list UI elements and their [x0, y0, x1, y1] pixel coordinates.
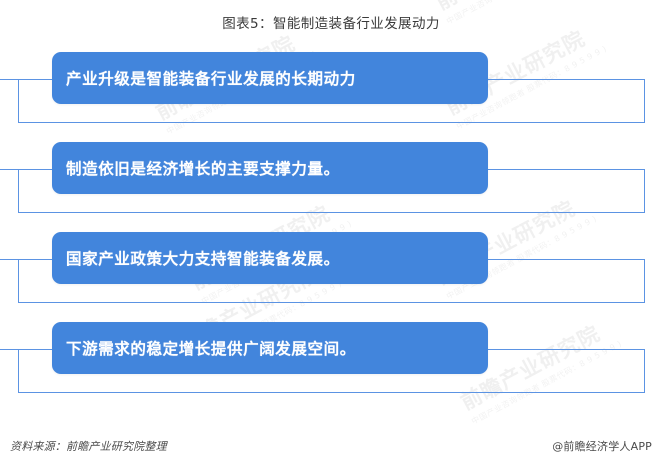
source-note: 资料来源：前瞻产业研究院整理	[10, 438, 167, 454]
driver-box-label: 制造依旧是经济增长的主要支撑力量。	[52, 157, 340, 179]
driver-box[interactable]: 制造依旧是经济增长的主要支撑力量。	[52, 142, 488, 194]
app-credit: @前瞻经济学人APP	[552, 438, 652, 454]
footer: 资料来源：前瞻产业研究院整理 @前瞻经济学人APP	[0, 438, 662, 454]
row-connector-tick	[0, 169, 19, 170]
row-connector-tick	[0, 259, 19, 260]
driver-box[interactable]: 产业升级是智能装备行业发展的长期动力	[52, 52, 488, 104]
driver-box[interactable]: 下游需求的稳定增长提供广阔发展空间。	[52, 322, 488, 374]
driver-box[interactable]: 国家产业政策大力支持智能装备发展。	[52, 232, 488, 284]
driver-box-label: 产业升级是智能装备行业发展的长期动力	[52, 67, 356, 89]
drivers-diagram: 产业升级是智能装备行业发展的长期动力 制造依旧是经济增长的主要支撑力量。 国家产…	[0, 0, 662, 468]
chart-title: 图表5：智能制造装备行业发展动力	[0, 12, 662, 32]
driver-box-label: 国家产业政策大力支持智能装备发展。	[52, 247, 340, 269]
row-connector-tick	[0, 349, 19, 350]
driver-box-label: 下游需求的稳定增长提供广阔发展空间。	[52, 337, 356, 359]
row-connector-tick	[0, 79, 19, 80]
